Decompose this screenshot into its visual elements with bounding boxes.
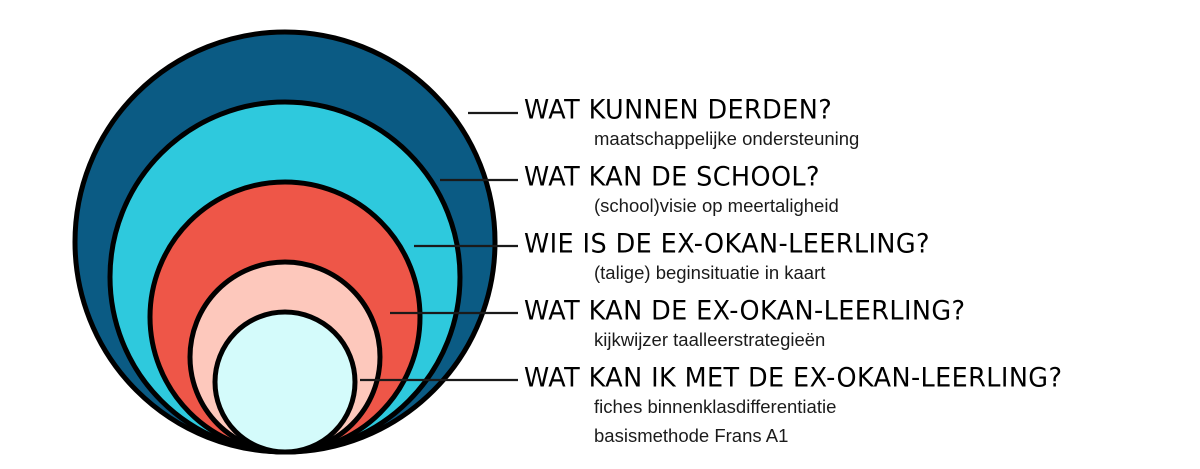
diagram-canvas: WAT KUNNEN DERDEN? maatschappelijke onde…: [0, 0, 1200, 469]
label-title-layer-5: WAT KAN IK MET DE EX-OKAN-LEERLING?: [524, 364, 1062, 392]
label-group-layer-5: WAT KAN IK MET DE EX-OKAN-LEERLING? fich…: [524, 364, 1062, 449]
label-group-layer-2: WAT KAN DE SCHOOL? (school)visie op meer…: [524, 163, 839, 219]
label-subtitle-layer-4-line-1: kijkwijzer taalleerstrategieën: [594, 327, 965, 353]
label-subtitle-layer-5-line-1: fiches binnenklasdifferentiatie: [594, 394, 1062, 420]
label-group-layer-4: WAT KAN DE EX-OKAN-LEERLING? kijkwijzer …: [524, 297, 965, 353]
label-title-layer-4: WAT KAN DE EX-OKAN-LEERLING?: [524, 297, 965, 325]
label-subtitle-layer-1-line-1: maatschappelijke ondersteuning: [594, 126, 859, 152]
label-title-layer-2: WAT KAN DE SCHOOL?: [524, 163, 839, 191]
label-group-layer-3: WIE IS DE EX-OKAN-LEERLING? (talige) beg…: [524, 230, 930, 286]
label-subtitle-layer-2-line-1: (school)visie op meertaligheid: [594, 193, 839, 219]
label-title-layer-1: WAT KUNNEN DERDEN?: [524, 96, 859, 124]
label-subtitle-layer-5-line-2: basismethode Frans A1: [594, 423, 1062, 449]
label-subtitle-layer-3-line-1: (talige) beginsituatie in kaart: [594, 260, 930, 286]
label-group-layer-1: WAT KUNNEN DERDEN? maatschappelijke onde…: [524, 96, 859, 152]
labels-layer: WAT KUNNEN DERDEN? maatschappelijke onde…: [0, 0, 1200, 469]
label-title-layer-3: WIE IS DE EX-OKAN-LEERLING?: [524, 230, 930, 258]
